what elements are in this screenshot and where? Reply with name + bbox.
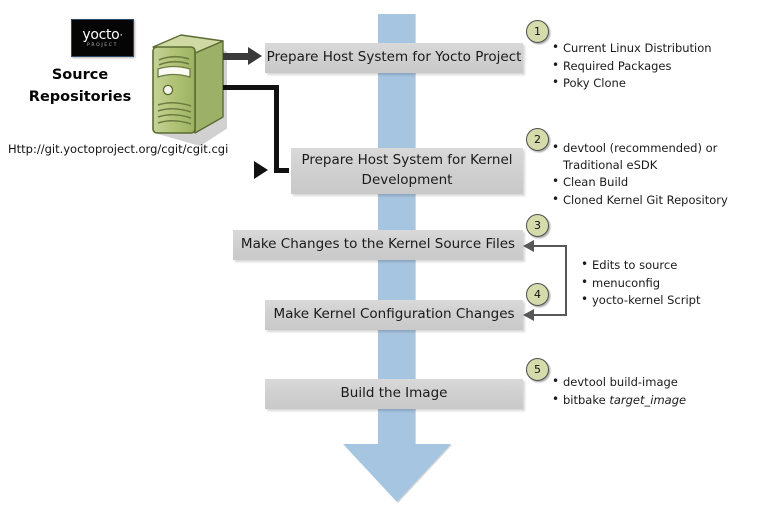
yocto-logo-word-text: yocto [82, 27, 119, 43]
loop-connector-vertical-segment [565, 245, 567, 316]
note-item: Current Linux Distribution [551, 40, 766, 57]
yocto-logo-subtext: PROJECT [87, 44, 118, 49]
step-number-badge-4: 4 [526, 283, 549, 306]
source-repositories-label-line1: Source [24, 65, 136, 87]
server-tower-icon [135, 33, 227, 148]
notes-step-5: devtool build-image bitbake target_image [551, 374, 766, 409]
step-number-badge-5: 5 [526, 358, 549, 381]
process-box-step-4-label: Make Kernel Configuration Changes [273, 305, 514, 325]
connector-repo-to-step2-segment-bottom [274, 168, 289, 173]
note-item: menuconfig [580, 275, 769, 292]
step-number-badge-3: 3 [526, 214, 549, 237]
yocto-project-logo: yocto· PROJECT [71, 19, 134, 57]
process-box-step-3-label: Make Changes to the Kernel Source Files [241, 235, 515, 255]
note-item: Edits to source [580, 257, 769, 274]
yocto-logo-dot: · [119, 29, 122, 42]
note-item: yocto-kernel Script [580, 292, 769, 309]
loop-connector-bottom-segment [530, 314, 566, 316]
notes-step-2: devtool (recommended) or Traditional eSD… [551, 140, 766, 210]
flow-arrow-down-icon [343, 444, 451, 502]
note-item: devtool (recommended) or Traditional eSD… [551, 140, 766, 173]
note-item: devtool build-image [551, 374, 766, 391]
note-item: bitbake target_image [551, 392, 766, 409]
kernel-development-flow-diagram: yocto· PROJECT Source Repositories Http:… [0, 0, 769, 517]
connector-repo-to-step2-arrowhead-icon [254, 161, 268, 179]
notes-step-1: Current Linux Distribution Required Pack… [551, 40, 766, 93]
note-item: Clean Build [551, 174, 766, 191]
loop-connector-top-segment [530, 245, 566, 247]
process-box-step-4[interactable]: Make Kernel Configuration Changes [265, 300, 523, 330]
process-box-step-5[interactable]: Build the Image [265, 379, 523, 409]
connector-repo-to-step2-segment-vertical [274, 85, 279, 173]
process-box-step-3[interactable]: Make Changes to the Kernel Source Files [233, 230, 523, 260]
note-item: Poky Clone [551, 75, 766, 92]
process-box-step-2[interactable]: Prepare Host System for Kernel Developme… [291, 148, 523, 194]
connector-repo-to-step2-segment-top [223, 85, 279, 90]
note-item-argument: target_image [609, 393, 686, 407]
source-repositories-label-line2: Repositories [24, 87, 136, 109]
loop-connector-arrowhead-step4-icon [523, 309, 534, 321]
connector-repo-to-step1-arrowhead-icon [248, 47, 262, 65]
notes-steps-3-and-4: Edits to source menuconfig yocto-kernel … [580, 257, 769, 310]
process-box-step-5-label: Build the Image [341, 384, 448, 404]
process-box-step-1[interactable]: Prepare Host System for Yocto Project [265, 43, 523, 73]
note-item-command: bitbake [563, 393, 609, 407]
step-number-badge-2: 2 [526, 128, 549, 151]
process-box-step-1-label: Prepare Host System for Yocto Project [267, 48, 522, 68]
step-number-badge-1: 1 [526, 20, 549, 43]
source-repositories-label: Source Repositories [24, 65, 136, 109]
loop-connector-arrowhead-step3-icon [523, 240, 534, 252]
process-box-step-2-label: Prepare Host System for Kernel Developme… [291, 151, 523, 190]
note-item: Cloned Kernel Git Repository [551, 192, 766, 209]
note-item: Required Packages [551, 58, 766, 75]
yocto-logo-wordmark: yocto· [82, 28, 122, 42]
